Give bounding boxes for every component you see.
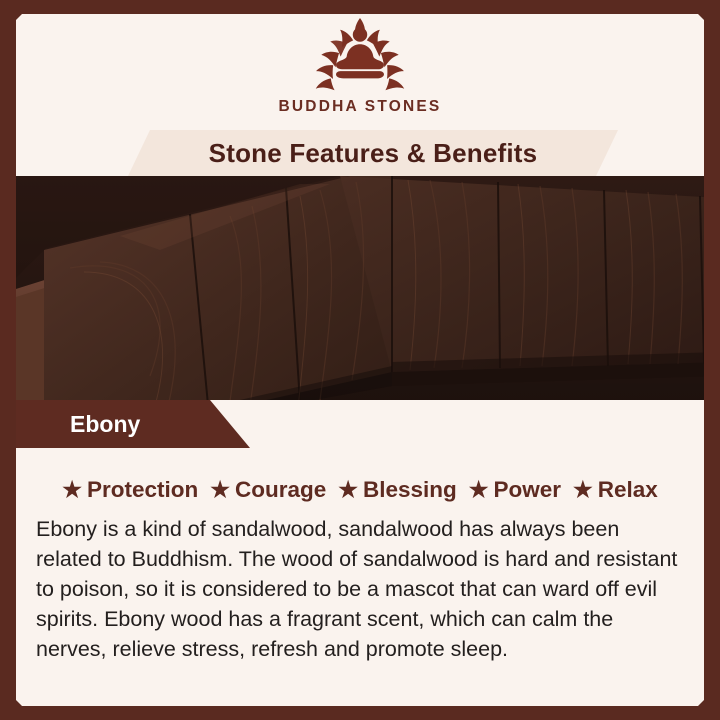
benefit-item-protection: ★ Protection [62,477,198,503]
product-description: Ebony is a kind of sandalwood, sandalwoo… [36,514,688,664]
label-band-cut [210,400,250,448]
frame-border-right [704,0,720,720]
benefit-label: Protection [87,477,198,503]
benefits-row: ★ Protection ★ Courage ★ Blessing ★ Powe… [16,470,704,510]
benefit-label: Relax [598,477,658,503]
corner-accent-bottom-left [0,684,36,720]
benefit-label: Blessing [363,477,457,503]
brand-name: BUDDHA STONES [279,98,442,116]
star-icon: ★ [210,479,230,501]
star-icon: ★ [338,479,358,501]
brand-logo: BUDDHA STONES [0,18,720,116]
title-ribbon: Stone Features & Benefits [150,130,596,176]
page-title: Stone Features & Benefits [150,130,596,176]
product-photo [0,176,720,404]
corner-accent-top-right [684,0,720,36]
frame-border-bottom [0,706,720,720]
benefit-item-blessing: ★ Blessing [338,477,457,503]
benefit-item-courage: ★ Courage [210,477,326,503]
product-label: Ebony [70,400,140,448]
ribbon-notch-right [596,130,618,176]
corner-accent-top-left [0,0,36,36]
lotus-meditation-figure-icon [276,18,444,94]
benefit-label: Power [493,477,561,503]
frame-border-top [0,0,720,14]
header: BUDDHA STONES Stone Features & Benefits [0,0,720,182]
ribbon-notch-left [128,130,150,176]
star-icon: ★ [469,479,489,501]
benefit-item-power: ★ Power [469,477,561,503]
infographic-page: BUDDHA STONES Stone Features & Benefits [0,0,720,720]
benefit-label: Courage [235,477,326,503]
star-icon: ★ [62,479,82,501]
frame-border-left [0,0,16,720]
benefit-item-relax: ★ Relax [573,477,658,503]
star-icon: ★ [573,479,593,501]
corner-accent-bottom-right [684,684,720,720]
label-band-cut-right [250,400,720,448]
